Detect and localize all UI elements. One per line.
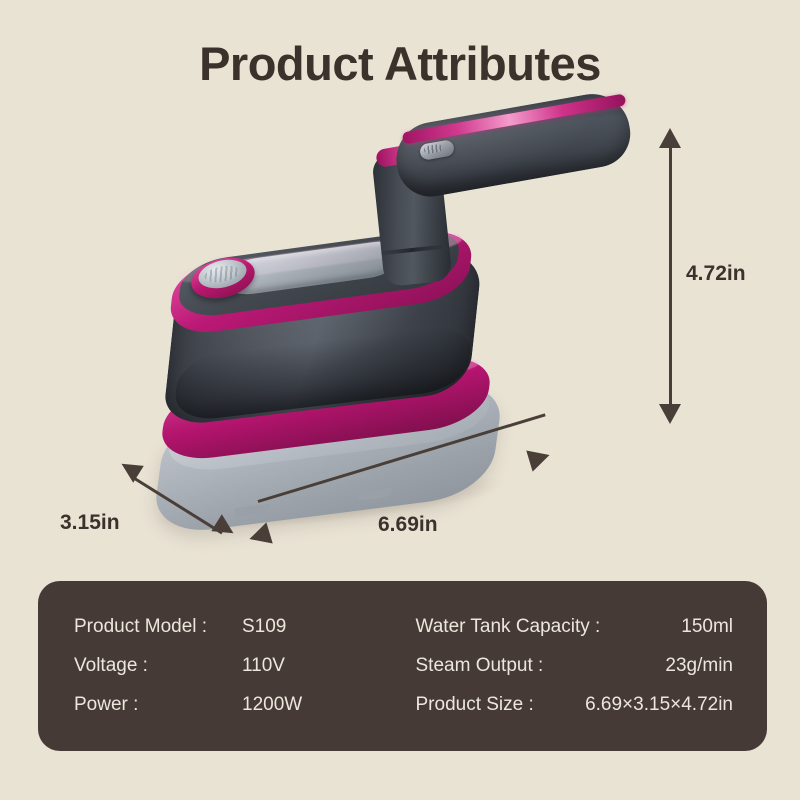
spec-column-right: Water Tank Capacity : 150ml Steam Output…	[402, 607, 734, 725]
product-attributes-page: Product Attributes 4.72in 6.69in	[0, 0, 800, 800]
depth-dimension-label: 3.15in	[60, 511, 120, 535]
spec-value: 6.69×3.15×4.72in	[585, 694, 733, 716]
spec-label: Product Size :	[416, 694, 534, 716]
spec-row: Steam Output : 23g/min	[416, 655, 734, 677]
spec-value: 110V	[242, 655, 285, 677]
spec-label: Water Tank Capacity :	[416, 616, 601, 638]
spec-row: Product Model : S109	[74, 616, 392, 638]
spec-label: Steam Output :	[416, 655, 544, 677]
height-arrow-up-icon	[659, 128, 681, 148]
spec-label: Voltage :	[74, 655, 242, 677]
page-title: Product Attributes	[0, 36, 800, 91]
spec-row: Water Tank Capacity : 150ml	[416, 616, 734, 638]
height-dimension-line	[669, 145, 672, 407]
product-illustration	[95, 110, 615, 540]
height-arrow-down-icon	[659, 404, 681, 424]
spec-row: Voltage : 110V	[74, 655, 392, 677]
width-dimension-label: 6.69in	[378, 513, 438, 537]
spec-value: 23g/min	[665, 655, 733, 677]
spec-value: 1200W	[242, 694, 302, 716]
height-dimension-label: 4.72in	[686, 262, 746, 286]
spec-value: 150ml	[681, 616, 733, 638]
spec-row: Power : 1200W	[74, 694, 392, 716]
spec-label: Product Model :	[74, 616, 242, 638]
spec-row: Product Size : 6.69×3.15×4.72in	[416, 694, 734, 716]
spec-value: S109	[242, 616, 286, 638]
spec-label: Power :	[74, 694, 242, 716]
specifications-card: Product Model : S109 Voltage : 110V Powe…	[38, 581, 767, 751]
spec-column-left: Product Model : S109 Voltage : 110V Powe…	[74, 607, 402, 725]
